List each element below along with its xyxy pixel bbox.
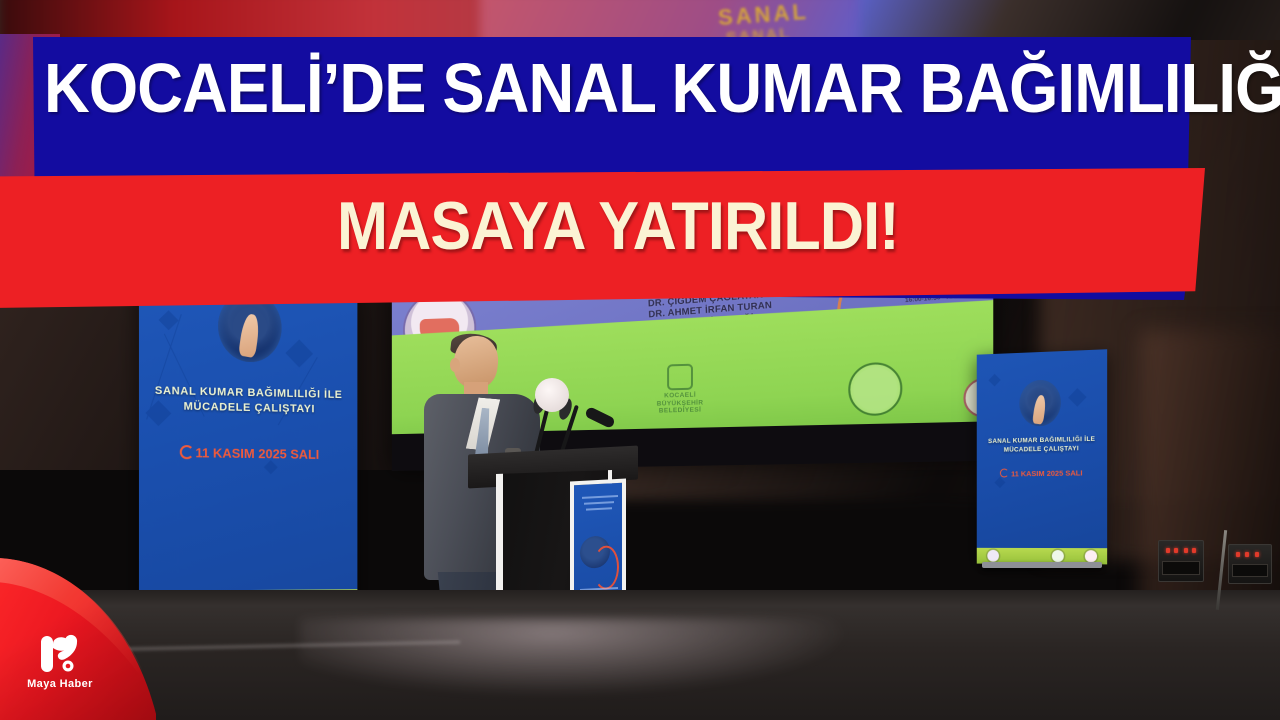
news-card: PROF.DR. ÖZLEM POLAT IŞIK DR. ÇİĞDEM ÇAĞ… [0, 0, 1280, 720]
kocaeli-universitesi-seal-icon [1051, 550, 1063, 562]
brand-name: Maya Haber [12, 678, 108, 690]
banner-date: 11 KASIM 2025 SALI [139, 444, 357, 462]
banner-stand-right [982, 562, 1102, 568]
kocaeli-valiligi-seal-icon [987, 550, 999, 562]
arc-icon [1000, 468, 1009, 477]
headline-line-1: KOCAELİ’DE SANAL KUMAR BAĞIMLILIĞI [44, 49, 1076, 127]
microphone-windscreen [535, 378, 569, 412]
floor-reflection [300, 618, 860, 698]
blurred-top-strip: SANAL SANAL [0, 0, 1280, 40]
stage-light-fixture [1228, 544, 1272, 584]
headline-line-2: MASAYA YATIRILDI! [337, 189, 1147, 263]
banner-title: SANAL KUMAR BAĞIMLILIĞI İLE MÜCADELE ÇAL… [977, 435, 1107, 456]
stage-light-fixture [1158, 540, 1204, 582]
banner-title: SANAL KUMAR BAĞIMLILIĞI İLE MÜCADELE ÇAL… [139, 383, 357, 418]
banner-date: 11 KASIM 2025 SALI [977, 467, 1107, 479]
kocaeli-buyuksehir-belediyesi-logo-icon [1019, 550, 1031, 562]
kocaeli-buyuksehir-belediyesi-logo-icon: KOCAELİBÜYÜKŞEHİRBELEDİYESİ [642, 363, 718, 415]
speaker-ear [450, 358, 460, 372]
rollup-banner-right: SANAL KUMAR BAĞIMLILIĞI İLE MÜCADELE ÇAL… [977, 349, 1107, 564]
maya-haber-h-monogram-icon [37, 634, 83, 674]
arc-icon [179, 445, 193, 459]
brand-logo[interactable]: Maya Haber [12, 634, 108, 690]
stage-curtain-far-right [1140, 330, 1280, 630]
rollup-banner-left: SANAL KUMAR BAĞIMLILIĞI İLE MÜCADELE ÇAL… [139, 282, 357, 618]
saglik-bakanligi-seal-icon [1084, 550, 1096, 562]
